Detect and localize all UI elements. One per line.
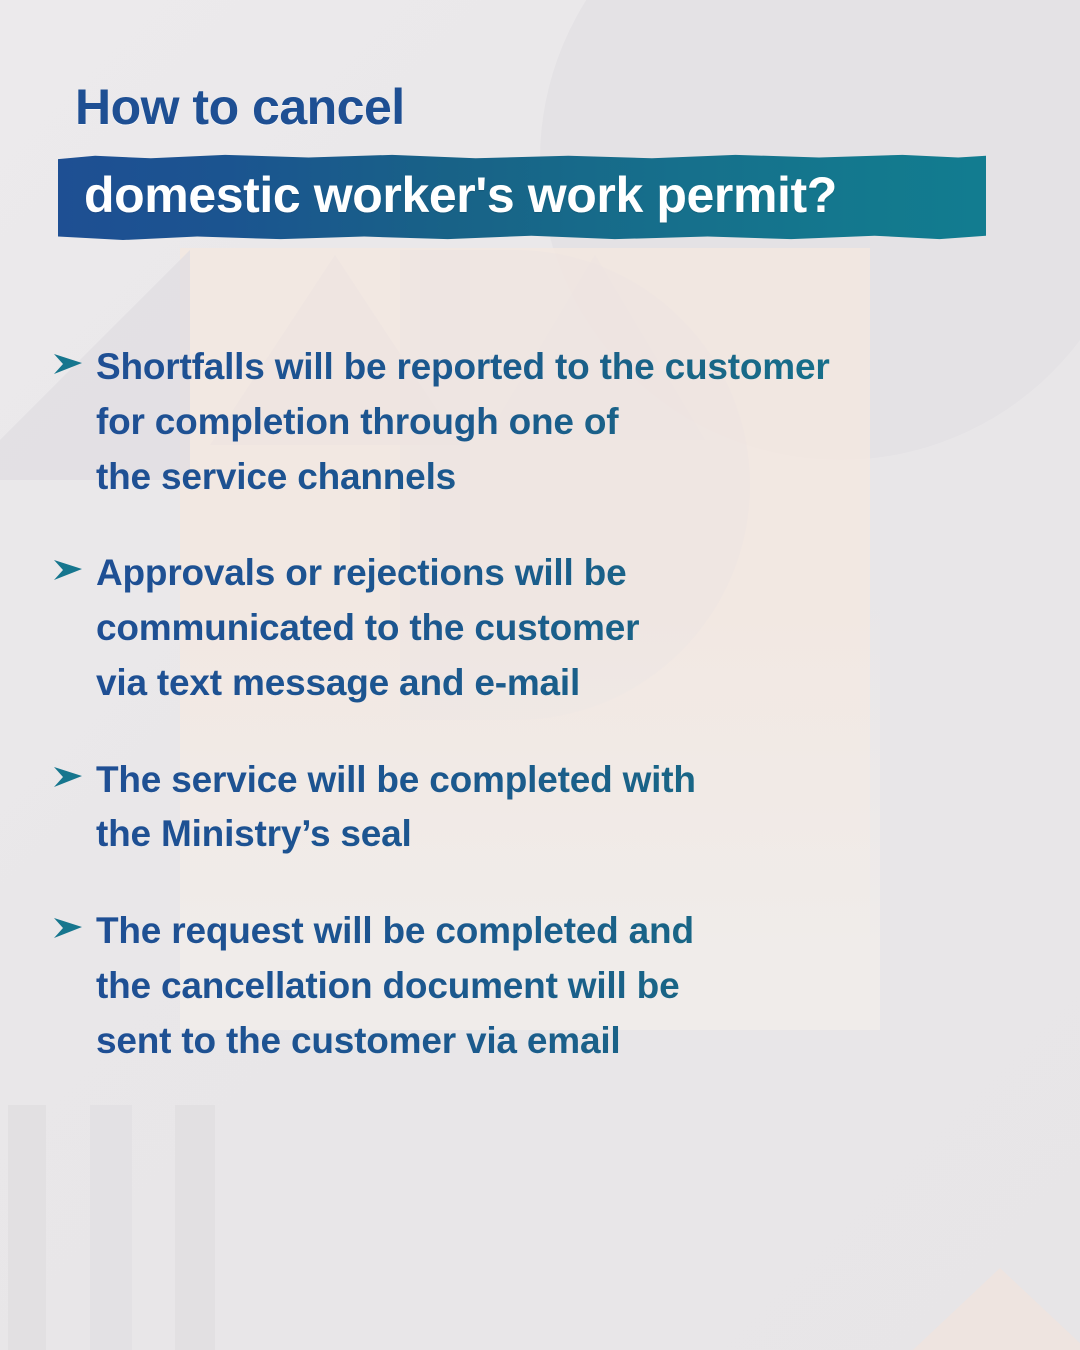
arrow-right-icon xyxy=(52,904,96,944)
list-item-text: The service will be completed with the M… xyxy=(96,753,1042,863)
infographic-poster: How to cancel domestic worker's work per… xyxy=(0,0,1080,1350)
list-item: The request will be completed and the ca… xyxy=(52,904,1042,1068)
list-item-text: Approvals or rejections will be communic… xyxy=(96,546,1042,710)
watermark-bar-3 xyxy=(175,1105,215,1350)
list-item-text: The request will be completed and the ca… xyxy=(96,904,1042,1068)
arrow-right-icon xyxy=(52,340,96,380)
bullet-list: Shortfalls will be reported to the custo… xyxy=(52,340,1042,1110)
watermark-bar-2 xyxy=(90,1105,132,1350)
list-item: Shortfalls will be reported to the custo… xyxy=(52,340,1042,504)
list-item-text: Shortfalls will be reported to the custo… xyxy=(96,340,1042,504)
headline-line-1: How to cancel xyxy=(75,82,405,132)
watermark-triangle-bottom xyxy=(830,1268,1080,1350)
watermark-bar-1 xyxy=(8,1105,46,1350)
list-item: The service will be completed with the M… xyxy=(52,753,1042,863)
headline-line-2: domestic worker's work permit? xyxy=(84,170,984,220)
list-item: Approvals or rejections will be communic… xyxy=(52,546,1042,710)
arrow-right-icon xyxy=(52,546,96,586)
arrow-right-icon xyxy=(52,753,96,793)
